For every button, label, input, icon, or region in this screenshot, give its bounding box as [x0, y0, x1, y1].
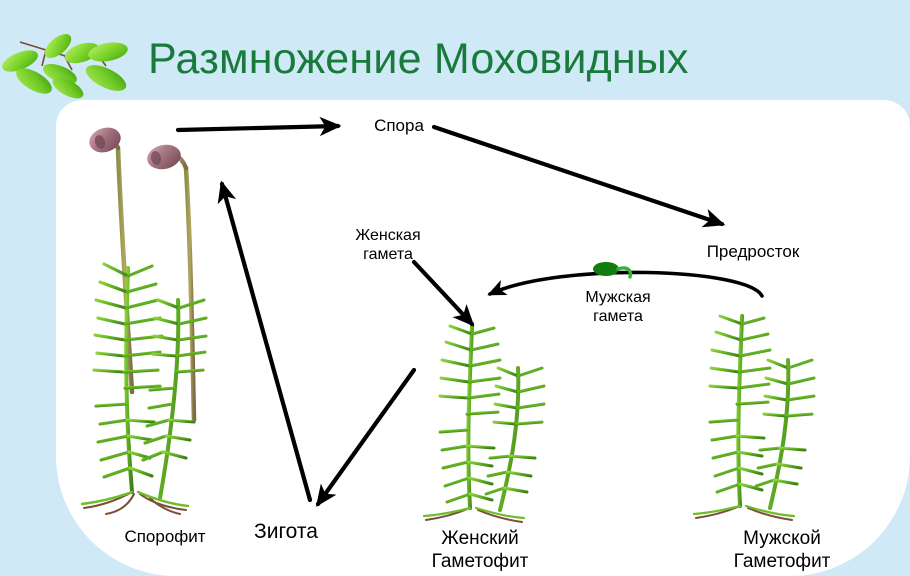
label-sporofit: Спорофит — [110, 527, 220, 547]
label-zhenskaya-gameta: Женская гамета — [336, 226, 440, 264]
page-title: Размножение Моховидных — [148, 34, 689, 84]
label-muzhskaya-gameta: Мужская гамета — [566, 288, 670, 326]
label-spora: Спора — [363, 116, 435, 136]
label-zhenskiy-gametofit: Женский Гаметофит — [420, 527, 540, 573]
slide-header: Размножение Моховидных — [0, 0, 910, 104]
slide-root: Размножение Моховидных — [0, 0, 910, 576]
content-panel — [56, 100, 910, 576]
label-zigota: Зигота — [238, 519, 334, 544]
label-predrostok: Предросток — [688, 242, 818, 262]
label-muzhskoy-gametofit: Мужской Гаметофит — [722, 527, 842, 573]
leaf-branch-icon — [2, 18, 162, 104]
